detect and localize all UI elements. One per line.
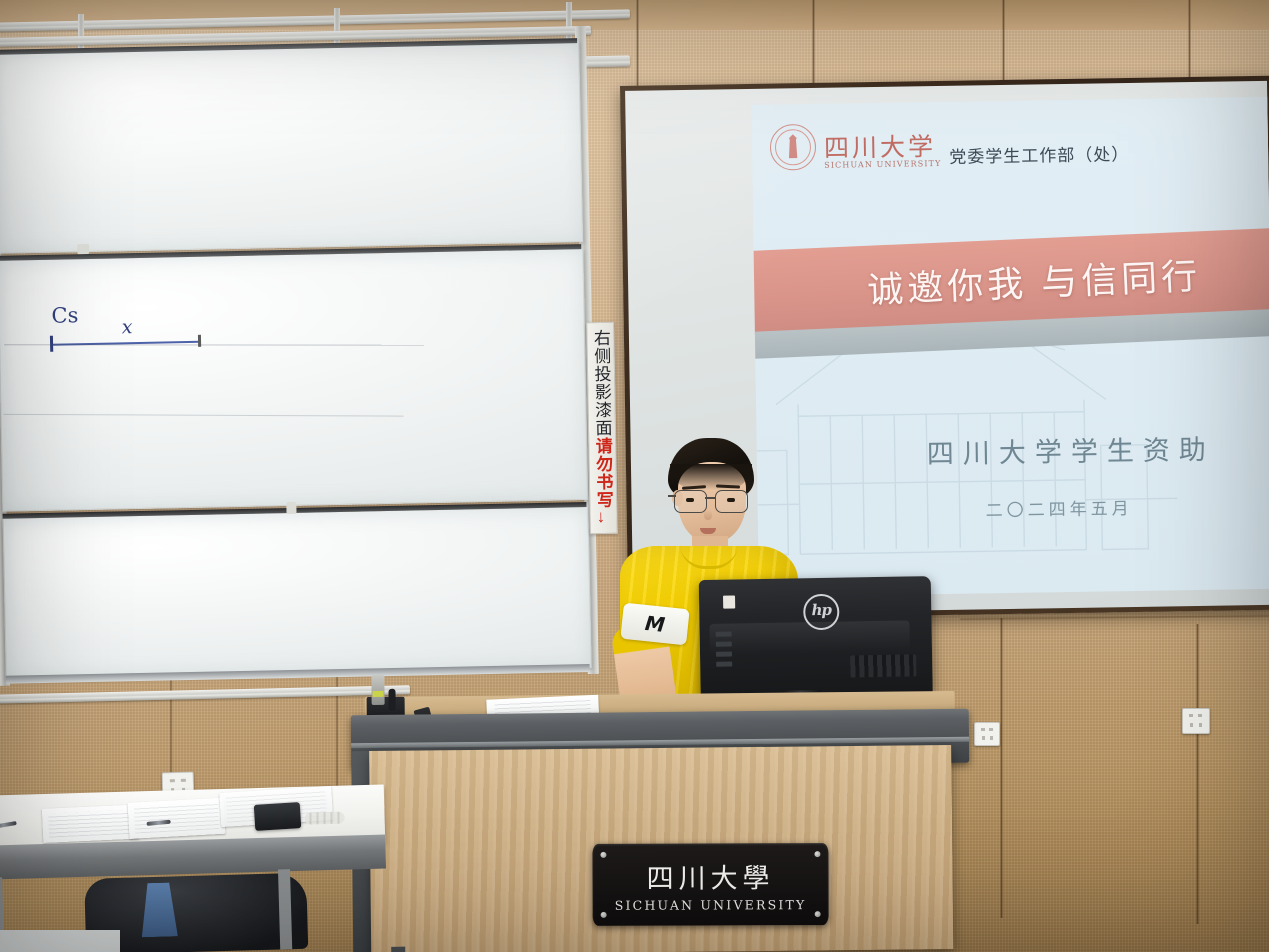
whiteboard-clip	[286, 502, 296, 514]
whiteboard-panel-upper	[0, 40, 583, 254]
monitor-port-bay	[850, 654, 916, 677]
plaque-name-en: SICHUAN UNIVERSITY	[615, 897, 807, 913]
classroom-presentation-photo: Cs x	[0, 0, 1269, 952]
lens-left	[674, 490, 707, 513]
document-text-lines	[48, 810, 133, 838]
marker-pen[interactable]	[0, 821, 17, 829]
plaque-name-cn: 四川大學	[646, 856, 774, 895]
desk-leg	[278, 869, 292, 949]
monitor-power-button[interactable]	[716, 662, 732, 667]
warning-text-black: 右侧投影漆面	[592, 329, 611, 437]
slide-logo-row: 四川大学 SICHUAN UNIVERSITY 党委学生工作部（处）	[770, 119, 1130, 171]
whiteboard-faint-line	[4, 344, 424, 345]
monitor-button[interactable]	[716, 652, 732, 657]
document-text-lines	[134, 803, 219, 834]
side-desk	[0, 784, 390, 952]
podium-front-wood: 四川大學 SICHUAN UNIVERSITY	[369, 745, 953, 952]
slide-date: 二〇二四年五月	[985, 494, 1132, 521]
whiteboard-faint-line	[4, 414, 404, 417]
small-accessories	[304, 812, 344, 825]
lens-right	[715, 490, 748, 513]
whiteboard-note-x: x	[122, 316, 133, 338]
whiteboard-clip	[77, 244, 89, 254]
hp-logo-text: hp	[805, 601, 837, 620]
university-name-cn: 四川大学	[824, 134, 936, 161]
eye-left	[686, 498, 694, 502]
monitor-sticker	[723, 595, 735, 608]
lectern-podium: 四川大學 SICHUAN UNIVERSITY	[351, 709, 971, 952]
podium-leg	[391, 947, 406, 952]
black-pouch	[254, 802, 302, 831]
whiteboard-assembly: Cs x	[0, 0, 620, 702]
podium-plaque: 四川大學 SICHUAN UNIVERSITY	[592, 843, 828, 926]
plaque-screw	[814, 851, 820, 857]
department-name: 党委学生工作部（处）	[949, 140, 1129, 168]
sichuan-university-seal-icon	[770, 124, 817, 171]
plaque-screw	[815, 911, 821, 917]
armband-label: M	[644, 611, 666, 637]
whiteboard-panel-middle: Cs x	[0, 248, 588, 512]
charge-indicator-led	[373, 691, 384, 697]
plaque-screw	[600, 852, 606, 858]
glasses-bridge	[705, 497, 715, 499]
plaque-screw	[601, 912, 607, 918]
dock-antenna	[388, 689, 395, 711]
eye-right	[727, 498, 735, 502]
slide-title-text: 诚邀你我 与信同行	[866, 247, 1202, 314]
university-name-en: SICHUAN UNIVERSITY	[824, 159, 941, 170]
power-outlet-right[interactable]	[1182, 708, 1210, 734]
seal-tower-glyph	[786, 134, 800, 158]
glasses-temple	[668, 495, 676, 497]
monitor-back-panel: hp	[699, 576, 933, 698]
stacked-documents	[42, 805, 139, 843]
whiteboard-note-cs: Cs	[51, 303, 78, 328]
stacked-documents	[128, 798, 226, 839]
whiteboard-arrow-cap	[198, 335, 201, 347]
monitor-button[interactable]	[716, 632, 732, 637]
whiteboard-arrow-line	[52, 341, 200, 346]
nose	[704, 510, 712, 520]
slide-subtitle: 四川大学学生资助	[926, 428, 1215, 472]
white-armband: M	[620, 603, 689, 646]
wall-seam	[1002, 0, 1005, 92]
monitor-button[interactable]	[716, 642, 732, 647]
floor-strip	[0, 930, 120, 952]
warning-text-red: 请勿书写→	[594, 437, 613, 527]
power-outlet-mid[interactable]	[974, 722, 1000, 746]
whiteboard-arrow-cap	[50, 336, 53, 352]
wall-seam	[812, 0, 815, 86]
eyeglasses	[674, 490, 752, 512]
presentation-slide: 四川大学 SICHUAN UNIVERSITY 党委学生工作部（处） 诚邀你我 …	[751, 97, 1269, 597]
whiteboard-panel-lower	[3, 506, 592, 680]
